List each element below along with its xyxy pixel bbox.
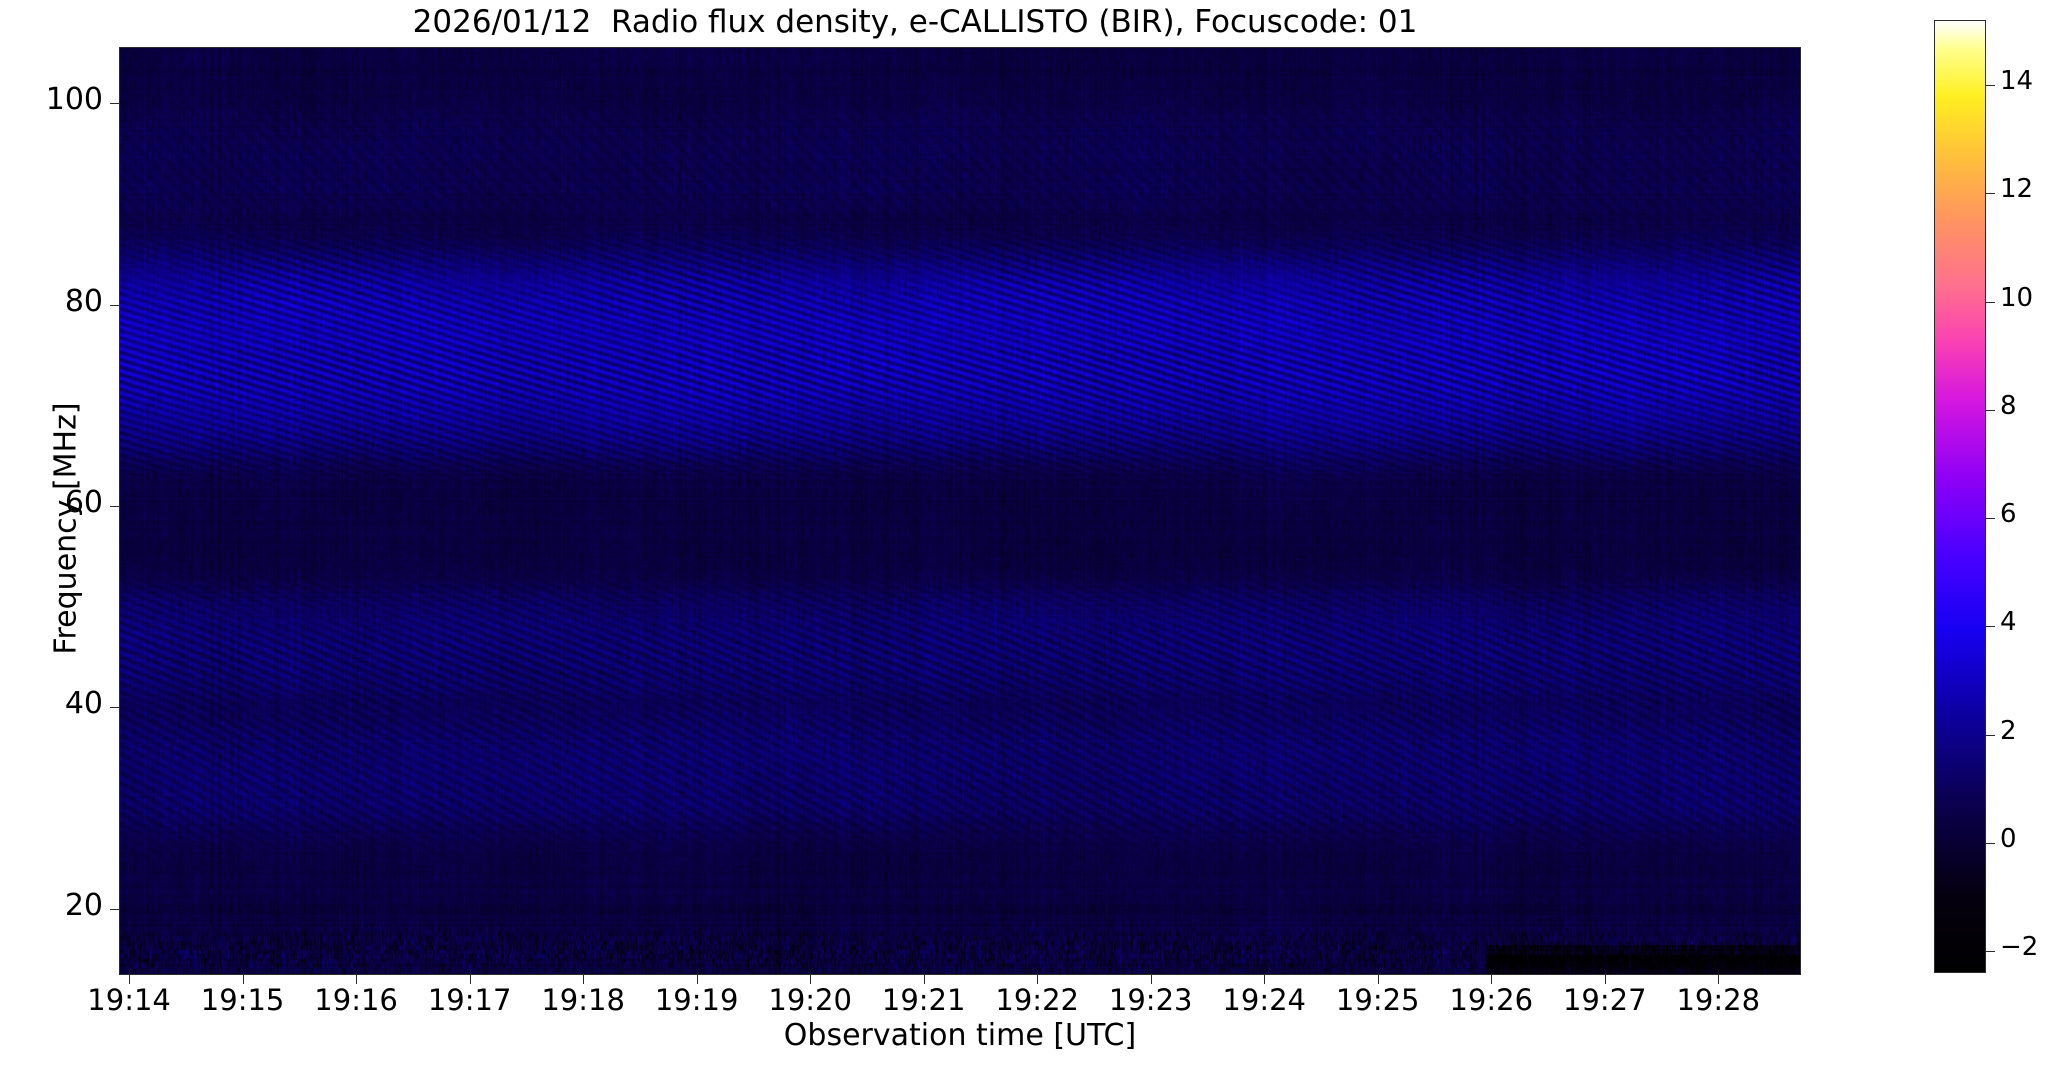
- spectrogram-image: [120, 48, 1800, 974]
- colorbar-tick-label: 2: [2000, 716, 2017, 746]
- y-tick-mark: [110, 506, 119, 507]
- colorbar-tick-label: 14: [2000, 66, 2033, 96]
- colorbar-tick-label: −2: [2000, 932, 2038, 962]
- colorbar: [1934, 20, 1986, 973]
- colorbar-tick-label: 8: [2000, 391, 2017, 421]
- x-axis-label: Observation time [UTC]: [119, 1018, 1801, 1053]
- x-tick-label: 19:25: [1336, 983, 1420, 1017]
- colorbar-tick-mark: [1986, 626, 1995, 627]
- y-tick-label: 80: [65, 284, 103, 319]
- colorbar-tick-label: 0: [2000, 824, 2017, 854]
- x-tick-label: 19:19: [655, 983, 739, 1017]
- colorbar-tick-mark: [1986, 951, 1995, 952]
- y-tick-label: 20: [65, 888, 103, 923]
- y-tick-mark: [110, 909, 119, 910]
- colorbar-tick-mark: [1986, 302, 1995, 303]
- x-tick-label: 19:16: [314, 983, 398, 1017]
- x-tick-label: 19:27: [1563, 983, 1647, 1017]
- x-tick-label: 19:22: [995, 983, 1079, 1017]
- x-tick-label: 19:28: [1676, 983, 1760, 1017]
- page-title: 2026/01/12 Radio flux density, e-CALLIST…: [0, 4, 1830, 40]
- y-axis-label: Frequency [MHz]: [49, 249, 84, 809]
- colorbar-tick-mark: [1986, 518, 1995, 519]
- y-tick-mark: [110, 305, 119, 306]
- x-tick-label: 19:17: [428, 983, 512, 1017]
- x-tick-label: 19:20: [768, 983, 852, 1017]
- y-tick-label: 60: [65, 485, 103, 520]
- x-tick-label: 19:23: [1109, 983, 1193, 1017]
- colorbar-tick-mark: [1986, 843, 1995, 844]
- x-tick-label: 19:14: [87, 983, 171, 1017]
- y-tick-mark: [110, 707, 119, 708]
- x-tick-label: 19:15: [201, 983, 285, 1017]
- y-tick-mark: [110, 103, 119, 104]
- x-tick-label: 19:21: [882, 983, 966, 1017]
- colorbar-tick-mark: [1986, 193, 1995, 194]
- colorbar-tick-label: 6: [2000, 499, 2017, 529]
- colorbar-tick-mark: [1986, 735, 1995, 736]
- y-tick-label: 100: [46, 82, 103, 117]
- spectrogram-plot-area: [119, 47, 1801, 975]
- x-tick-label: 19:18: [541, 983, 625, 1017]
- colorbar-tick-mark: [1986, 410, 1995, 411]
- colorbar-tick-label: 10: [2000, 283, 2033, 313]
- x-tick-label: 19:24: [1222, 983, 1306, 1017]
- colorbar-tick-label: 12: [2000, 174, 2033, 204]
- colorbar-tick-mark: [1986, 85, 1995, 86]
- y-tick-label: 40: [65, 686, 103, 721]
- colorbar-tick-label: 4: [2000, 607, 2017, 637]
- x-tick-label: 19:26: [1449, 983, 1533, 1017]
- colorbar-gradient: [1935, 21, 1985, 972]
